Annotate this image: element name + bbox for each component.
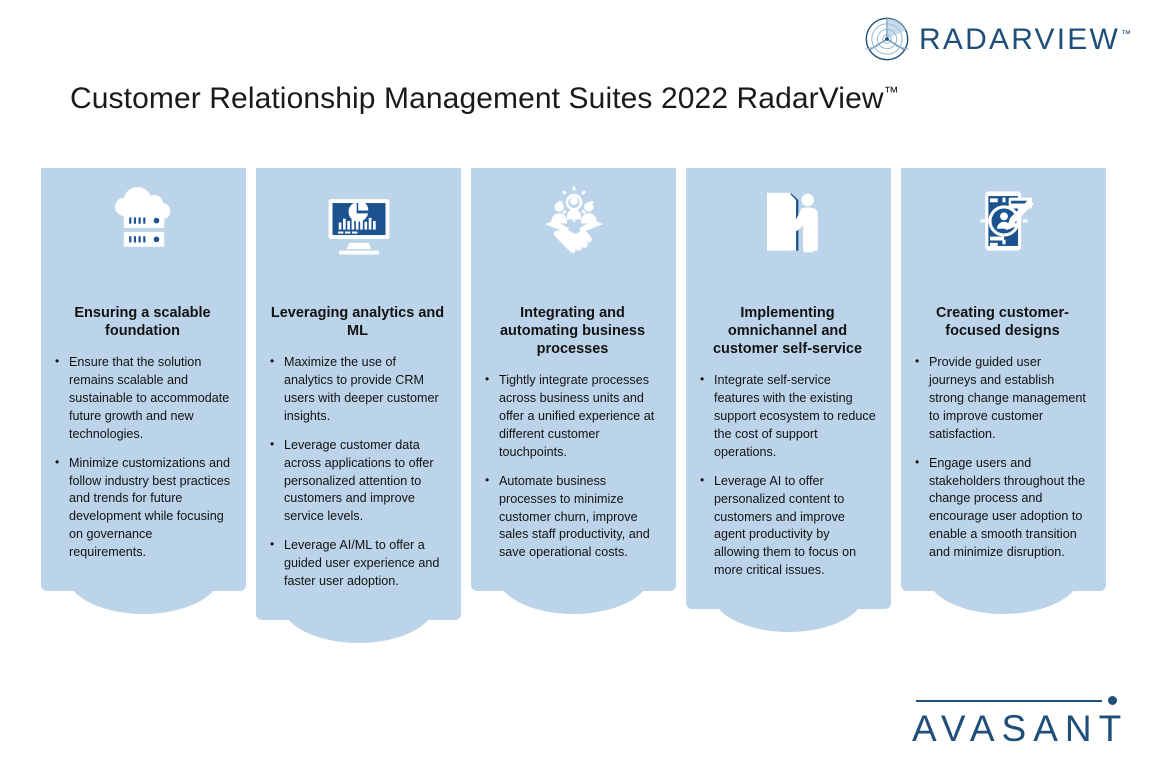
card-implementing-omnichannel-self-service[interactable]: Implementing omnichannel and customer se… xyxy=(686,168,891,620)
card-bullet-list: Provide guided user journeys and establi… xyxy=(913,354,1092,562)
ux-design-brush-icon xyxy=(901,182,1106,260)
card-title: Ensuring a scalable foundation xyxy=(53,304,232,340)
list-item: Automate business processes to minimize … xyxy=(483,473,662,562)
infographic-page: RADARVIEW™ Customer Relationship Managem… xyxy=(0,0,1152,768)
avasant-dot-icon xyxy=(1108,696,1117,705)
card-bullet-list: Maximize the use of analytics to provide… xyxy=(268,354,447,591)
avasant-wordmark: AVASANT xyxy=(912,708,1126,750)
card-ensuring-scalable-foundation[interactable]: Ensuring a scalable foundation Ensure th… xyxy=(41,168,246,620)
cloud-server-icon xyxy=(41,182,246,260)
card-leveraging-analytics-ml[interactable]: Leveraging analytics and ML Maximize the… xyxy=(256,168,461,620)
title-trademark-symbol: ™ xyxy=(884,84,899,101)
radarview-wordmark: RADARVIEW™ xyxy=(919,23,1130,57)
list-item: Minimize customizations and follow indus… xyxy=(53,455,232,562)
list-item: Integrate self-service features with the… xyxy=(698,372,877,461)
radar-target-icon xyxy=(864,16,910,62)
handshake-team-gear-icon xyxy=(471,182,676,260)
card-title: Integrating and automating business proc… xyxy=(483,304,662,358)
card-integrating-automating-processes[interactable]: Integrating and automating business proc… xyxy=(471,168,676,620)
card-title: Leveraging analytics and ML xyxy=(268,304,447,340)
list-item: Tightly integrate processes across busin… xyxy=(483,372,662,461)
page-title: Customer Relationship Management Suites … xyxy=(70,82,899,116)
card-bullet-list: Tightly integrate processes across busin… xyxy=(483,372,662,562)
card-bullet-list: Ensure that the solution remains scalabl… xyxy=(53,354,232,562)
avasant-logo: AVASANT xyxy=(912,688,1126,752)
avasant-line-dot-icon xyxy=(916,700,1102,702)
trademark-symbol: ™ xyxy=(1121,29,1131,40)
analytics-monitor-icon xyxy=(256,182,461,260)
card-bullet-list: Integrate self-service features with the… xyxy=(698,372,877,580)
list-item: Leverage AI/ML to offer a guided user ex… xyxy=(268,537,447,591)
list-item: Ensure that the solution remains scalabl… xyxy=(53,354,232,443)
list-item: Leverage customer data across applicatio… xyxy=(268,437,447,526)
list-item: Provide guided user journeys and establi… xyxy=(913,354,1092,443)
list-item: Leverage AI to offer personalized conten… xyxy=(698,473,877,580)
self-service-kiosk-icon xyxy=(686,182,891,260)
card-title: Creating customer-focused designs xyxy=(913,304,1092,340)
card-title: Implementing omnichannel and customer se… xyxy=(698,304,877,358)
list-item: Maximize the use of analytics to provide… xyxy=(268,354,447,426)
list-item: Engage users and stakeholders throughout… xyxy=(913,455,1092,562)
card-row: Ensuring a scalable foundation Ensure th… xyxy=(41,168,1111,620)
card-creating-customer-focused-designs[interactable]: Creating customer-focused designs Provid… xyxy=(901,168,1106,620)
radarview-logo: RADARVIEW™ xyxy=(864,16,1130,62)
